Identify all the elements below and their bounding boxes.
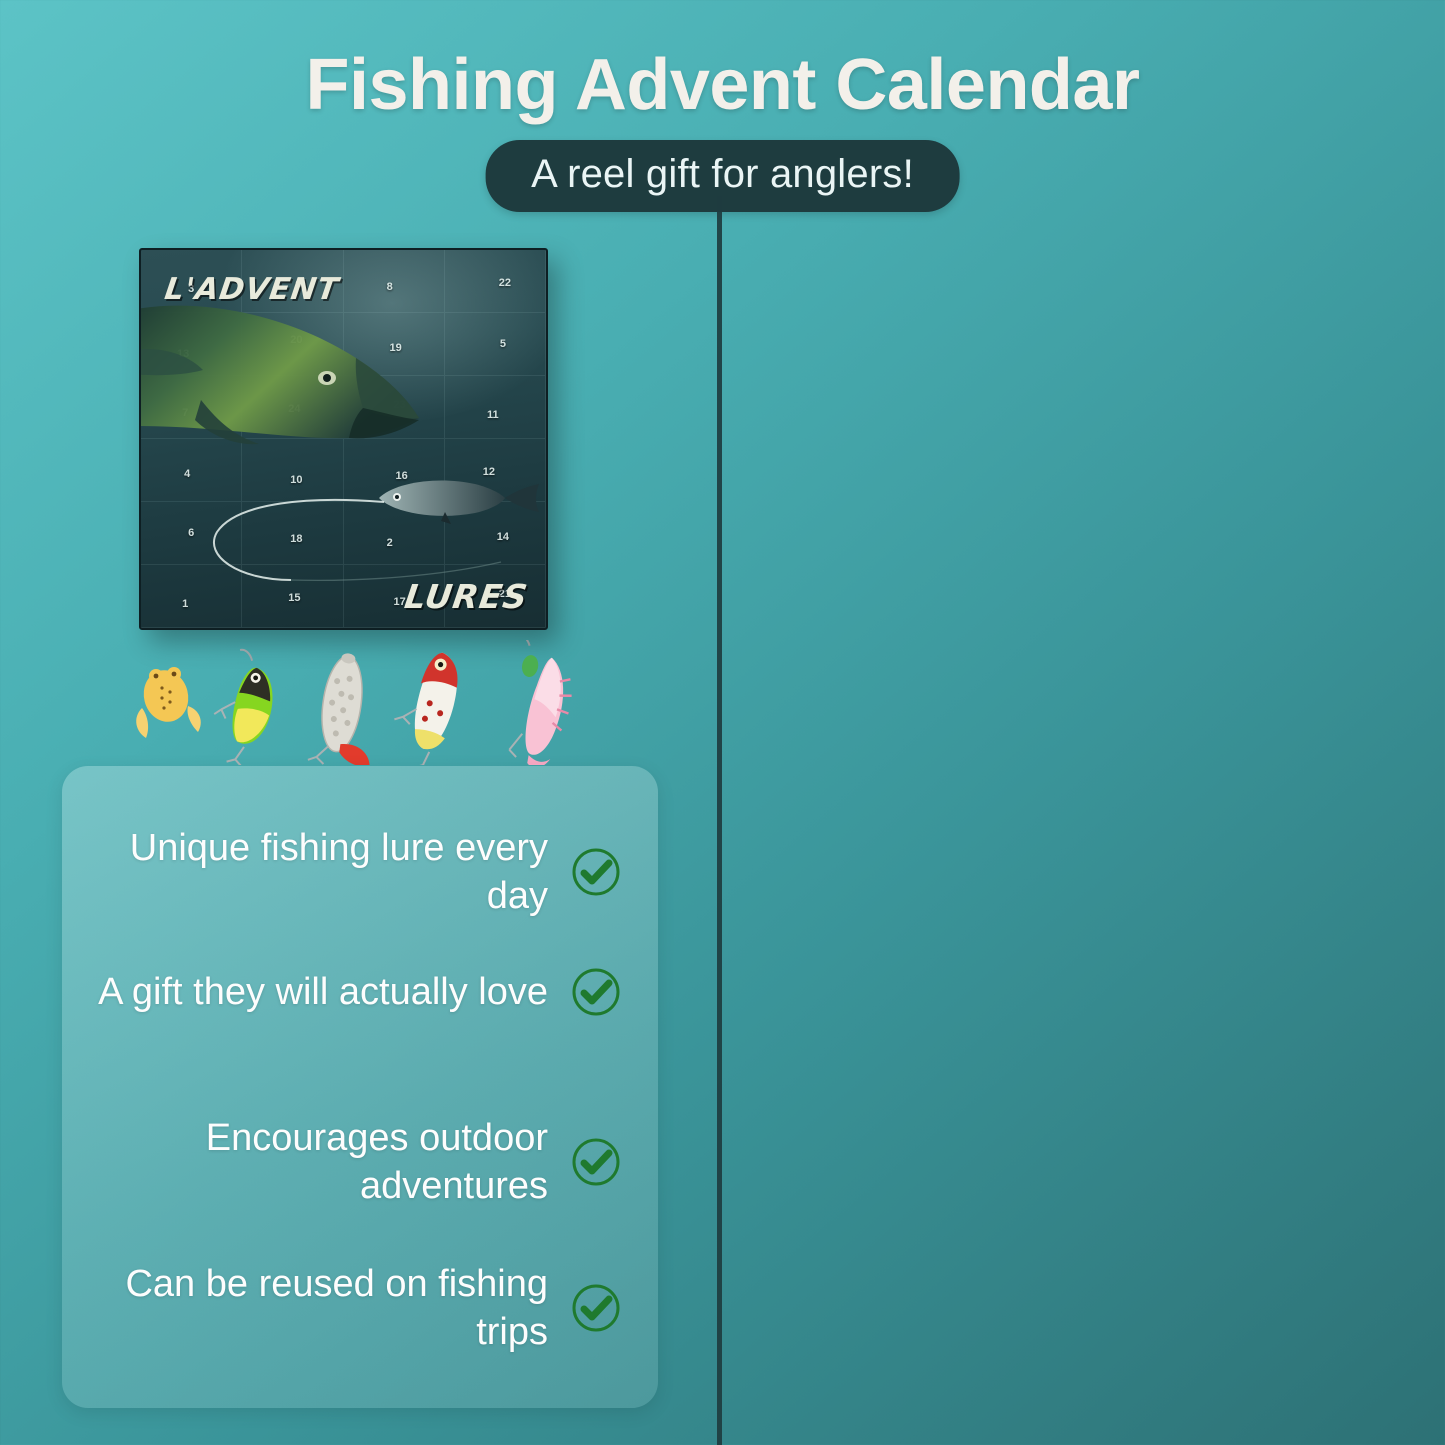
- calendar-door-13[interactable]: 13: [141, 313, 242, 376]
- silver-spoon-lure: [308, 650, 385, 765]
- left-column: 398221320195724231141016126182141151721: [0, 0, 717, 1445]
- calendar-door-7[interactable]: 7: [141, 376, 242, 439]
- calendar-door-23[interactable]: 23: [344, 376, 445, 439]
- calendar-door-1[interactable]: 1: [141, 565, 242, 628]
- benefit-row: Encourages outdoor adventures: [94, 1114, 622, 1211]
- calendar-door-12[interactable]: 12: [445, 439, 546, 502]
- check-icon: [570, 846, 622, 898]
- door-number: 8: [387, 281, 393, 293]
- benefits-card: Unique fishing lure every dayA gift they…: [62, 766, 658, 1408]
- calendar-door-20[interactable]: 20: [242, 313, 343, 376]
- benefit-text: Encourages outdoor adventures: [94, 1114, 548, 1211]
- calendar-door-11[interactable]: 11: [445, 376, 546, 439]
- benefit-text: A gift they will actually love: [98, 968, 548, 1016]
- door-number: 7: [182, 407, 188, 419]
- check-circle-icon: [570, 1282, 622, 1334]
- calendar-door-16[interactable]: 16: [344, 439, 445, 502]
- benefit-row: A gift they will actually love: [94, 966, 622, 1018]
- calendar-door-18[interactable]: 18: [242, 502, 343, 565]
- yellow-frog-lure: [136, 665, 201, 738]
- door-number: 22: [499, 277, 511, 289]
- pink-soft-lure: [493, 640, 580, 765]
- door-number: 19: [390, 342, 402, 354]
- door-number: 16: [396, 470, 408, 482]
- green-crankbait-lure: [205, 647, 283, 765]
- door-number: 11: [487, 409, 499, 421]
- fishing-lures-row: [118, 640, 618, 765]
- calendar-brand-bottom-text: LURES: [403, 577, 531, 616]
- check-icon: [570, 1136, 622, 1188]
- door-number: 18: [290, 533, 302, 545]
- door-number: 13: [177, 348, 189, 360]
- benefit-row: Unique fishing lure every day: [94, 824, 622, 921]
- calendar-door-8[interactable]: 8: [344, 250, 445, 313]
- benefit-row: Can be reused on fishing trips: [94, 1260, 622, 1357]
- calendar-door-19[interactable]: 19: [344, 313, 445, 376]
- calendar-door-2[interactable]: 2: [344, 502, 445, 565]
- calendar-brand-top-text: L'ADVENT: [163, 272, 342, 307]
- calendar-door-15[interactable]: 15: [242, 565, 343, 628]
- red-white-popper-lure: [387, 647, 463, 765]
- check-icon: [570, 1282, 622, 1334]
- door-number: 4: [184, 468, 190, 480]
- calendar-door-10[interactable]: 10: [242, 439, 343, 502]
- door-number: 24: [288, 403, 300, 415]
- check-circle-icon: [570, 1136, 622, 1188]
- door-number: 12: [483, 466, 495, 478]
- check-circle-icon: [570, 966, 622, 1018]
- calendar-door-14[interactable]: 14: [445, 502, 546, 565]
- door-number: 15: [288, 592, 300, 604]
- door-number: 23: [394, 399, 406, 411]
- benefit-text: Unique fishing lure every day: [94, 824, 548, 921]
- door-number: 2: [387, 537, 393, 549]
- calendar-door-22[interactable]: 22: [445, 250, 546, 313]
- door-number: 6: [188, 527, 194, 539]
- calendar-door-4[interactable]: 4: [141, 439, 242, 502]
- door-number: 5: [500, 338, 506, 350]
- benefit-text: Can be reused on fishing trips: [94, 1260, 548, 1357]
- door-number: 1: [182, 598, 188, 610]
- calendar-door-5[interactable]: 5: [445, 313, 546, 376]
- check-icon: [570, 966, 622, 1018]
- fishing-advent-calendar-image: 398221320195724231141016126182141151721: [139, 248, 548, 630]
- calendar-door-6[interactable]: 6: [141, 502, 242, 565]
- door-number: 10: [290, 474, 302, 486]
- right-column: GODIVA LIMITED EDITIONADVENT CALENDAR: [722, 0, 1445, 1445]
- door-number: 20: [290, 334, 302, 346]
- calendar-door-24[interactable]: 24: [242, 376, 343, 439]
- check-circle-icon: [570, 846, 622, 898]
- door-number: 14: [497, 531, 509, 543]
